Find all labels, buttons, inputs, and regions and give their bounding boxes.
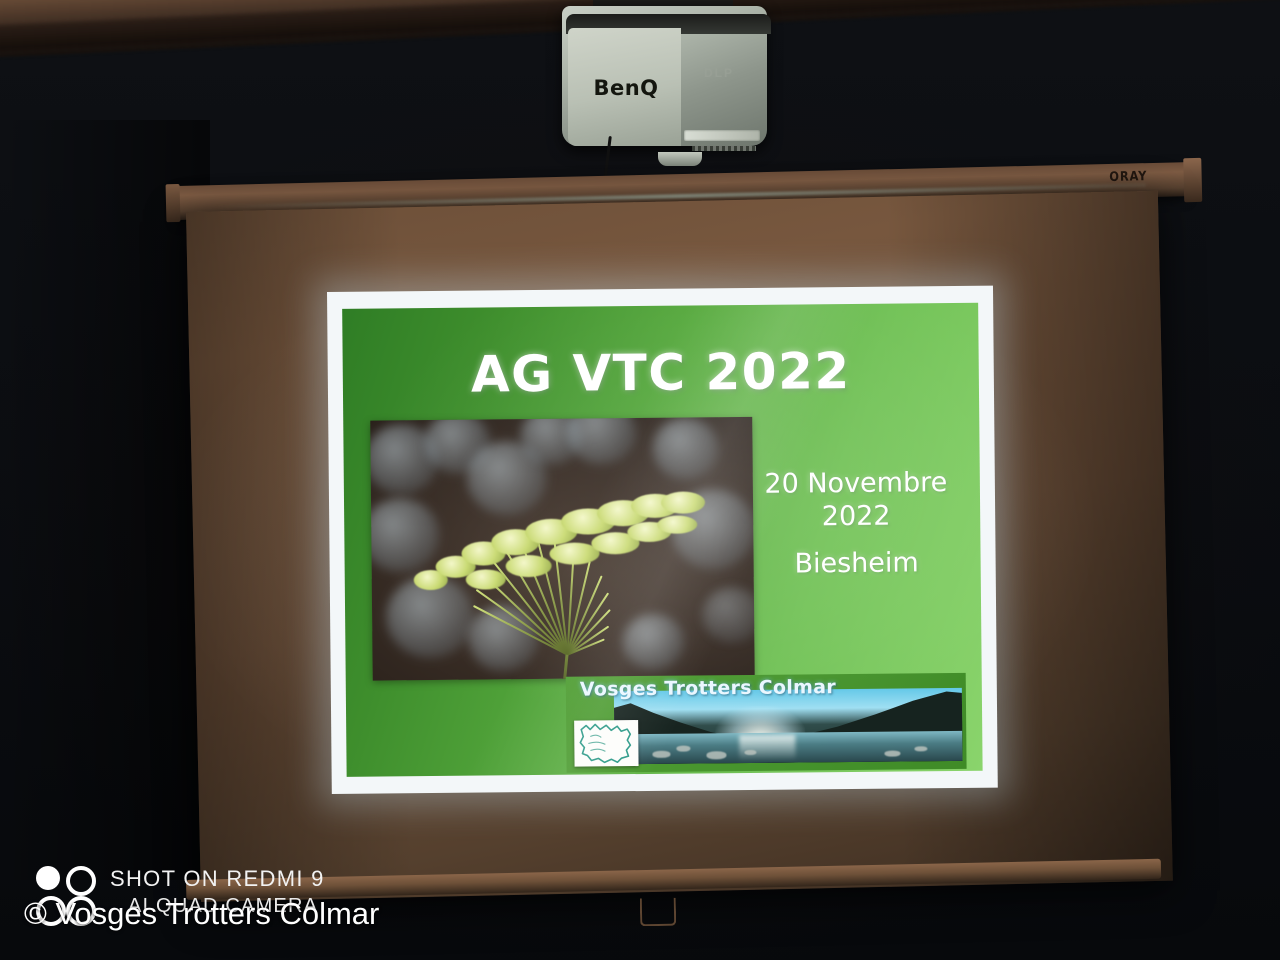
club-logo-map-icon <box>574 720 638 767</box>
water-reflection <box>739 735 795 762</box>
projector-lens <box>658 152 702 166</box>
watermark-camera-line1: SHOT ON REDMI 9 <box>110 866 325 892</box>
projector-body: BenQ DLP <box>562 6 767 146</box>
slide-title: AG VTC 2022 <box>343 341 980 405</box>
club-banner: Vosges Trotters Colmar <box>566 673 967 773</box>
umbel-flower <box>405 475 727 668</box>
club-logo <box>574 720 638 767</box>
dlp-logo: DLP <box>704 66 734 80</box>
watermark-copyright: © Vosges Trotters Colmar <box>24 896 379 932</box>
slide-place: Biesheim <box>748 547 964 580</box>
club-name-label: Vosges Trotters Colmar <box>580 675 952 701</box>
projector-vent <box>684 130 760 141</box>
projected-slide-area: AG VTC 2022 <box>327 286 998 794</box>
room-scene: BenQ DLP ORAY AG VTC 2022 <box>0 0 1280 960</box>
screen-housing-end-right <box>1183 158 1202 202</box>
screen-housing-end-left <box>166 184 181 222</box>
flower-photo <box>370 417 754 681</box>
slide-date: 20 Novembre2022 <box>748 466 965 535</box>
presentation-slide: AG VTC 2022 <box>342 303 982 777</box>
oray-brand-logo: ORAY <box>1109 169 1147 185</box>
ceiling-projector: BenQ DLP <box>558 0 773 171</box>
screen-pull-handle <box>640 898 676 927</box>
projector-brand-label: BenQ <box>576 76 676 100</box>
projector-vent-grille <box>692 146 756 151</box>
